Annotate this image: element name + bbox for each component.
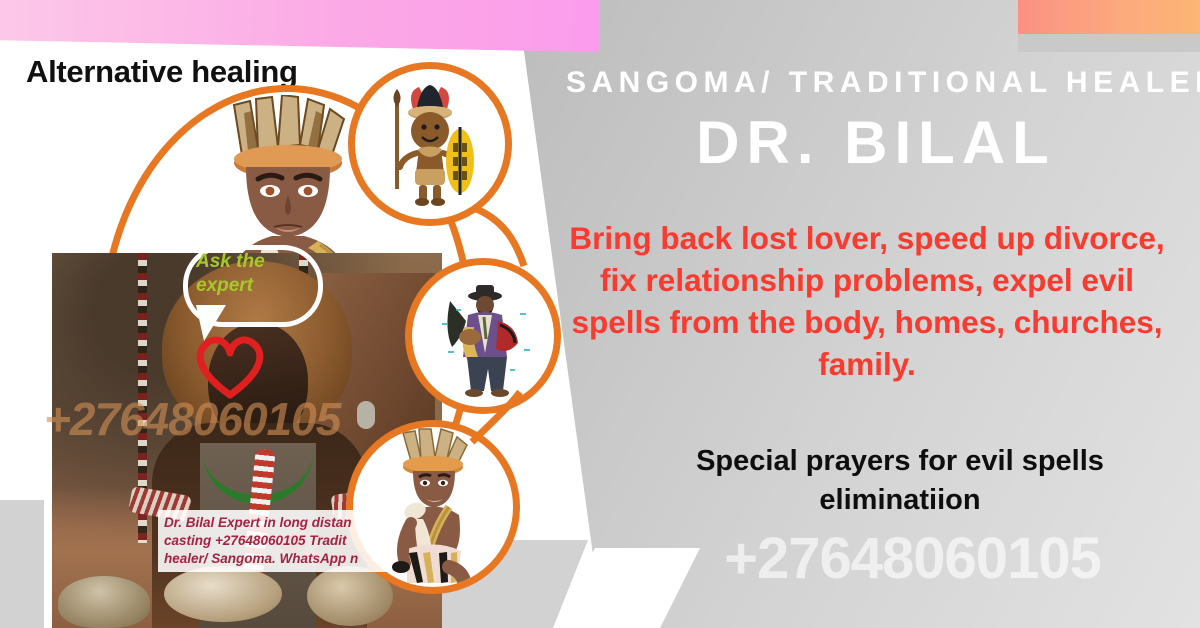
healer-figure-icon	[412, 265, 554, 407]
heart-icon	[193, 333, 267, 399]
phone-watermark: +27648060105	[640, 525, 1185, 592]
zulu-warrior-icon	[355, 69, 505, 219]
poster-canvas: Alternative healing	[0, 0, 1200, 628]
connector-arc-bottom	[468, 388, 526, 448]
caption-line-3: healer/ Sangoma. WhatsApp n	[164, 550, 384, 568]
services-text: Bring back lost lover, speed up divorce,…	[552, 218, 1182, 386]
photo-caption: Dr. Bilal Expert in long distan casting …	[158, 510, 390, 572]
prayers-text: Special prayers for evil spells eliminat…	[620, 442, 1180, 520]
page-title: Alternative healing	[26, 54, 298, 90]
healer-name: DR. BILAL	[566, 108, 1186, 177]
caption-line-2: casting +27648060105 Tradit	[164, 532, 384, 550]
connector-arc-top	[470, 200, 530, 270]
orange-gradient-band	[1018, 0, 1200, 34]
kicker-text: SANGOMA/ TRADITIONAL HEALER	[566, 66, 1186, 100]
pink-gradient-band	[0, 0, 600, 52]
photo-phone-watermark: +27648060105	[44, 392, 444, 446]
caption-line-1: Dr. Bilal Expert in long distan	[164, 514, 384, 532]
speech-bubble-text: Ask the expert	[196, 250, 314, 298]
